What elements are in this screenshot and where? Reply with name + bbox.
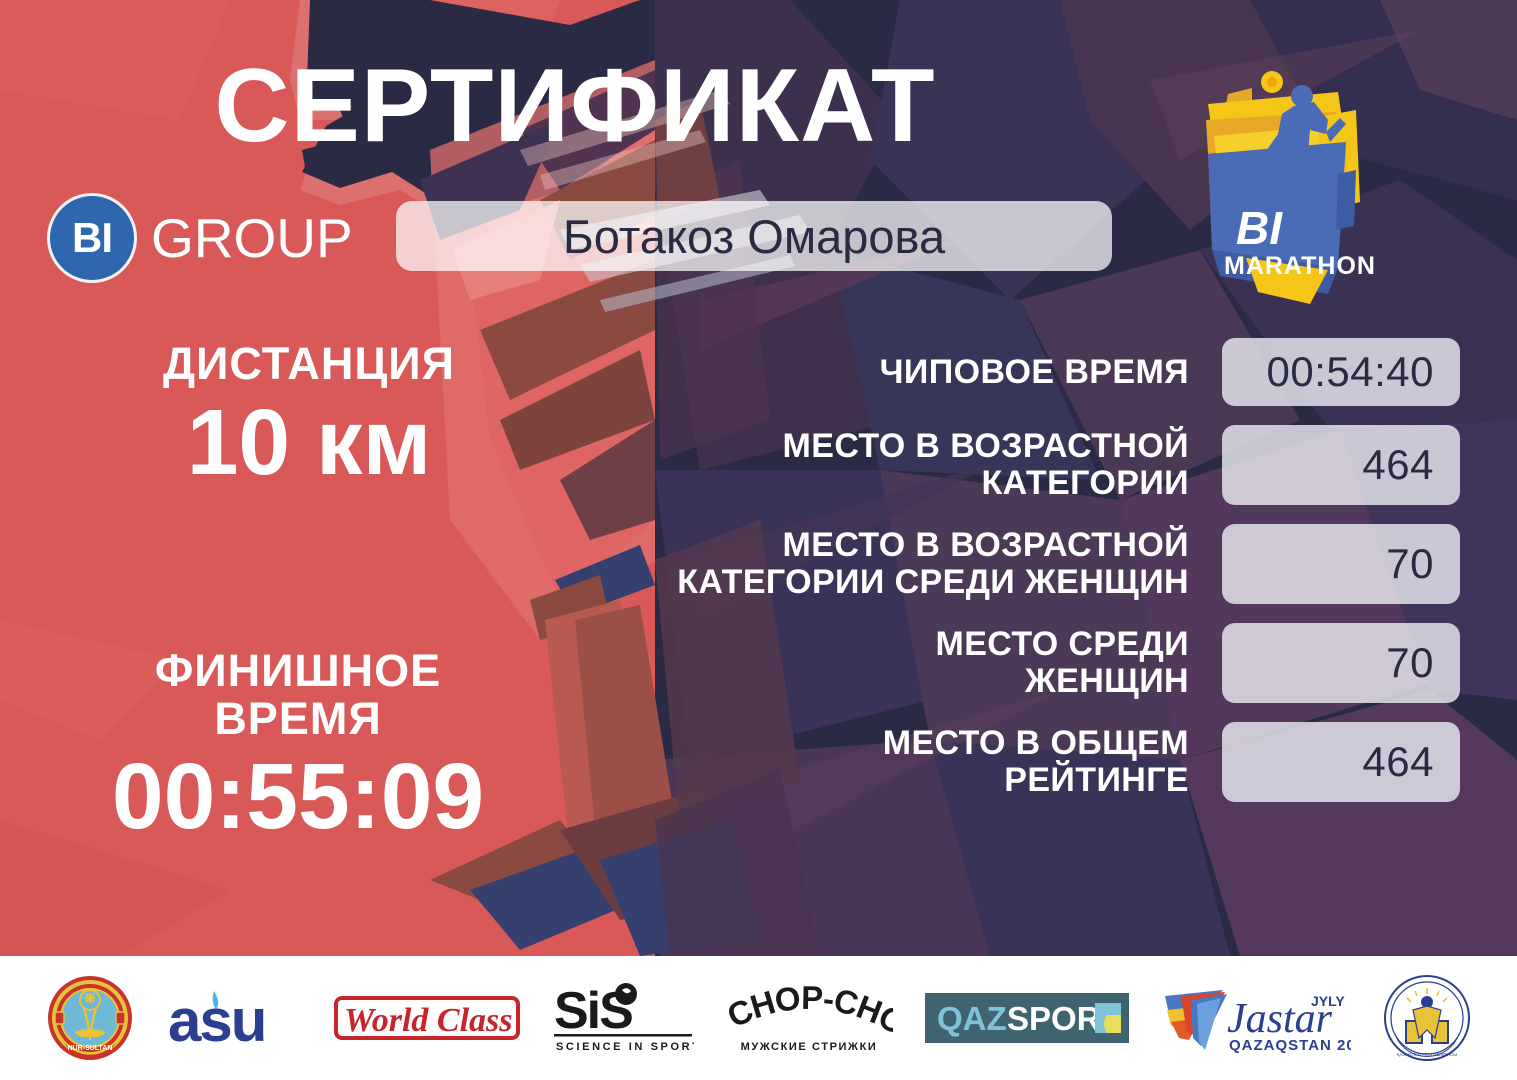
stat-value-overall-place: 464 bbox=[1362, 738, 1434, 786]
sponsor-qazsport-logo: QAZ SPORT bbox=[925, 972, 1129, 1064]
ministry-caption: ҚАЗАҚСТАН РЕСПУБЛИКАСЫ bbox=[1397, 1052, 1457, 1057]
stat-pill-women-place: 70 bbox=[1222, 623, 1460, 703]
stat-pill-age-category-women-place: 70 bbox=[1222, 524, 1460, 604]
certificate-canvas: СЕРТИФИКАТ BI GROUP Ботакоз Омарова bbox=[0, 0, 1517, 1080]
stat-row: МЕСТО В ОБЩЕМ РЕЙТИНГЕ 464 bbox=[520, 722, 1460, 802]
stat-row: ЧИПОВОЕ ВРЕМЯ 00:54:40 bbox=[520, 338, 1460, 406]
stat-row: МЕСТО В ВОЗРАСТНОЙ КАТЕГОРИИ 464 bbox=[520, 425, 1460, 505]
stat-label-age-category-place: МЕСТО В ВОЗРАСТНОЙ КАТЕГОРИИ bbox=[783, 428, 1222, 501]
sponsors-footer: NUR-SULTAN asu World Class SiS SC bbox=[0, 956, 1517, 1080]
stat-value-chip-time: 00:54:40 bbox=[1267, 348, 1435, 396]
stat-pill-overall-place: 464 bbox=[1222, 722, 1460, 802]
participant-name-field: Ботакоз Омарова bbox=[396, 201, 1112, 271]
right-stats-column: ЧИПОВОЕ ВРЕМЯ 00:54:40 МЕСТО В ВОЗРАСТНО… bbox=[520, 338, 1460, 821]
bi-group-label: GROUP bbox=[151, 206, 353, 270]
jastar-subcaption: QAZAQSTAN 2019 bbox=[1229, 1037, 1351, 1054]
bi-badge-icon: BI bbox=[47, 193, 137, 283]
chop-chop-subcaption: МУЖСКИЕ СТРИЖКИ bbox=[741, 1041, 878, 1053]
stat-label-overall-place: МЕСТО В ОБЩЕМ РЕЙТИНГЕ bbox=[883, 725, 1222, 798]
sponsor-ministry-logo: ҚАЗАҚСТАН РЕСПУБЛИКАСЫ bbox=[1383, 972, 1471, 1064]
chop-chop-caption: CHOP-CHOP bbox=[725, 982, 893, 1042]
stat-label-age-category-women-place: МЕСТО В ВОЗРАСТНОЙ КАТЕГОРИИ СРЕДИ ЖЕНЩИ… bbox=[677, 527, 1222, 600]
stat-pill-chip-time: 00:54:40 bbox=[1222, 338, 1460, 406]
nur-sultan-caption: NUR-SULTAN bbox=[68, 1045, 113, 1052]
bi-marathon-logo: BI MARATHON bbox=[1178, 62, 1383, 307]
marathon-logo-bi-text: BI bbox=[1236, 202, 1283, 254]
sponsor-world-class-logo: World Class bbox=[334, 972, 520, 1064]
stat-row: МЕСТО В ВОЗРАСТНОЙ КАТЕГОРИИ СРЕДИ ЖЕНЩИ… bbox=[520, 524, 1460, 604]
sponsor-asu-logo: asu bbox=[166, 972, 302, 1064]
jastar-superscript: JYLY bbox=[1311, 993, 1345, 1009]
sis-subcaption: SCIENCE IN SPORT bbox=[556, 1041, 694, 1053]
sponsor-chop-chop-logo: CHOP-CHOP МУЖСКИЕ СТРИЖКИ bbox=[725, 972, 893, 1064]
stat-label-chip-time: ЧИПОВОЕ ВРЕМЯ bbox=[880, 354, 1222, 391]
sponsor-jastar-jyly-logo: Jastar JYLY QAZAQSTAN 2019 bbox=[1161, 972, 1351, 1064]
marathon-logo-marathon-text: MARATHON bbox=[1224, 252, 1376, 280]
stat-pill-age-category-place: 464 bbox=[1222, 425, 1460, 505]
sponsor-sis-logo: SiS SCIENCE IN SPORT bbox=[552, 972, 694, 1064]
world-class-caption: World Class bbox=[344, 1002, 512, 1039]
page-title: СЕРТИФИКАТ bbox=[0, 54, 1150, 158]
stat-label-women-place: МЕСТО СРЕДИ ЖЕНЩИН bbox=[936, 626, 1223, 699]
qazsport-caption-a: QAZ bbox=[937, 1000, 1007, 1037]
bi-group-logo: BI GROUP bbox=[47, 193, 353, 283]
stat-value-age-category-place: 464 bbox=[1362, 441, 1434, 489]
sponsor-nur-sultan-logo: NUR-SULTAN bbox=[46, 972, 134, 1064]
participant-name-value: Ботакоз Омарова bbox=[563, 209, 945, 264]
stat-value-women-place: 70 bbox=[1386, 639, 1434, 687]
stat-value-age-category-women-place: 70 bbox=[1386, 540, 1434, 588]
stat-row: МЕСТО СРЕДИ ЖЕНЩИН 70 bbox=[520, 623, 1460, 703]
